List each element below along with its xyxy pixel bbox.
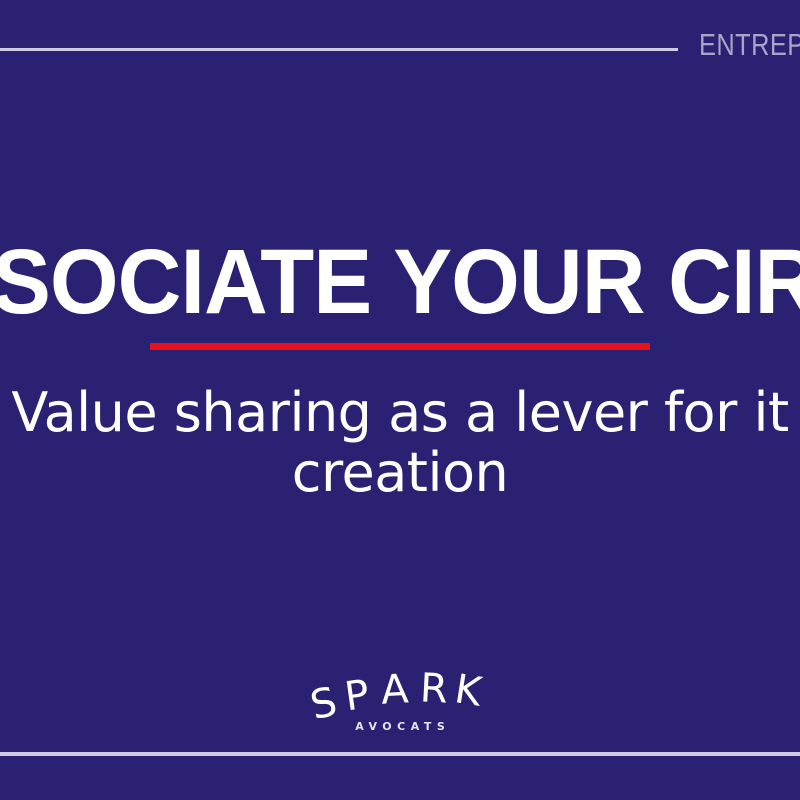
header-divider-rule: [0, 48, 678, 51]
logo-letter-s: S: [307, 682, 341, 727]
spark-avocats-logo: S P A R K AVOCATS: [0, 660, 800, 760]
logo-wordmark: S P A R K: [0, 660, 800, 718]
presentation-slide: ENTREP SSOCIATE YOUR CIRC Value sharing …: [0, 0, 800, 800]
logo-letter-a: A: [380, 669, 409, 710]
logo-letter-r: R: [419, 668, 449, 709]
logo-letter-p: P: [342, 675, 371, 718]
footer-divider-rule: [0, 752, 800, 756]
logo-tagline: AVOCATS: [0, 721, 800, 732]
slide-title: SSOCIATE YOUR CIRC: [0, 234, 800, 331]
title-accent-underline: [150, 343, 650, 350]
logo-letter-k: K: [452, 669, 484, 713]
slide-subtitle-line-2: creation: [292, 441, 508, 504]
slide-subtitle-line-1: Value sharing as a lever for it: [0, 383, 800, 443]
header-category-label: ENTREP: [699, 29, 800, 60]
slide-subtitle: Value sharing as a lever for it creation: [0, 383, 800, 504]
